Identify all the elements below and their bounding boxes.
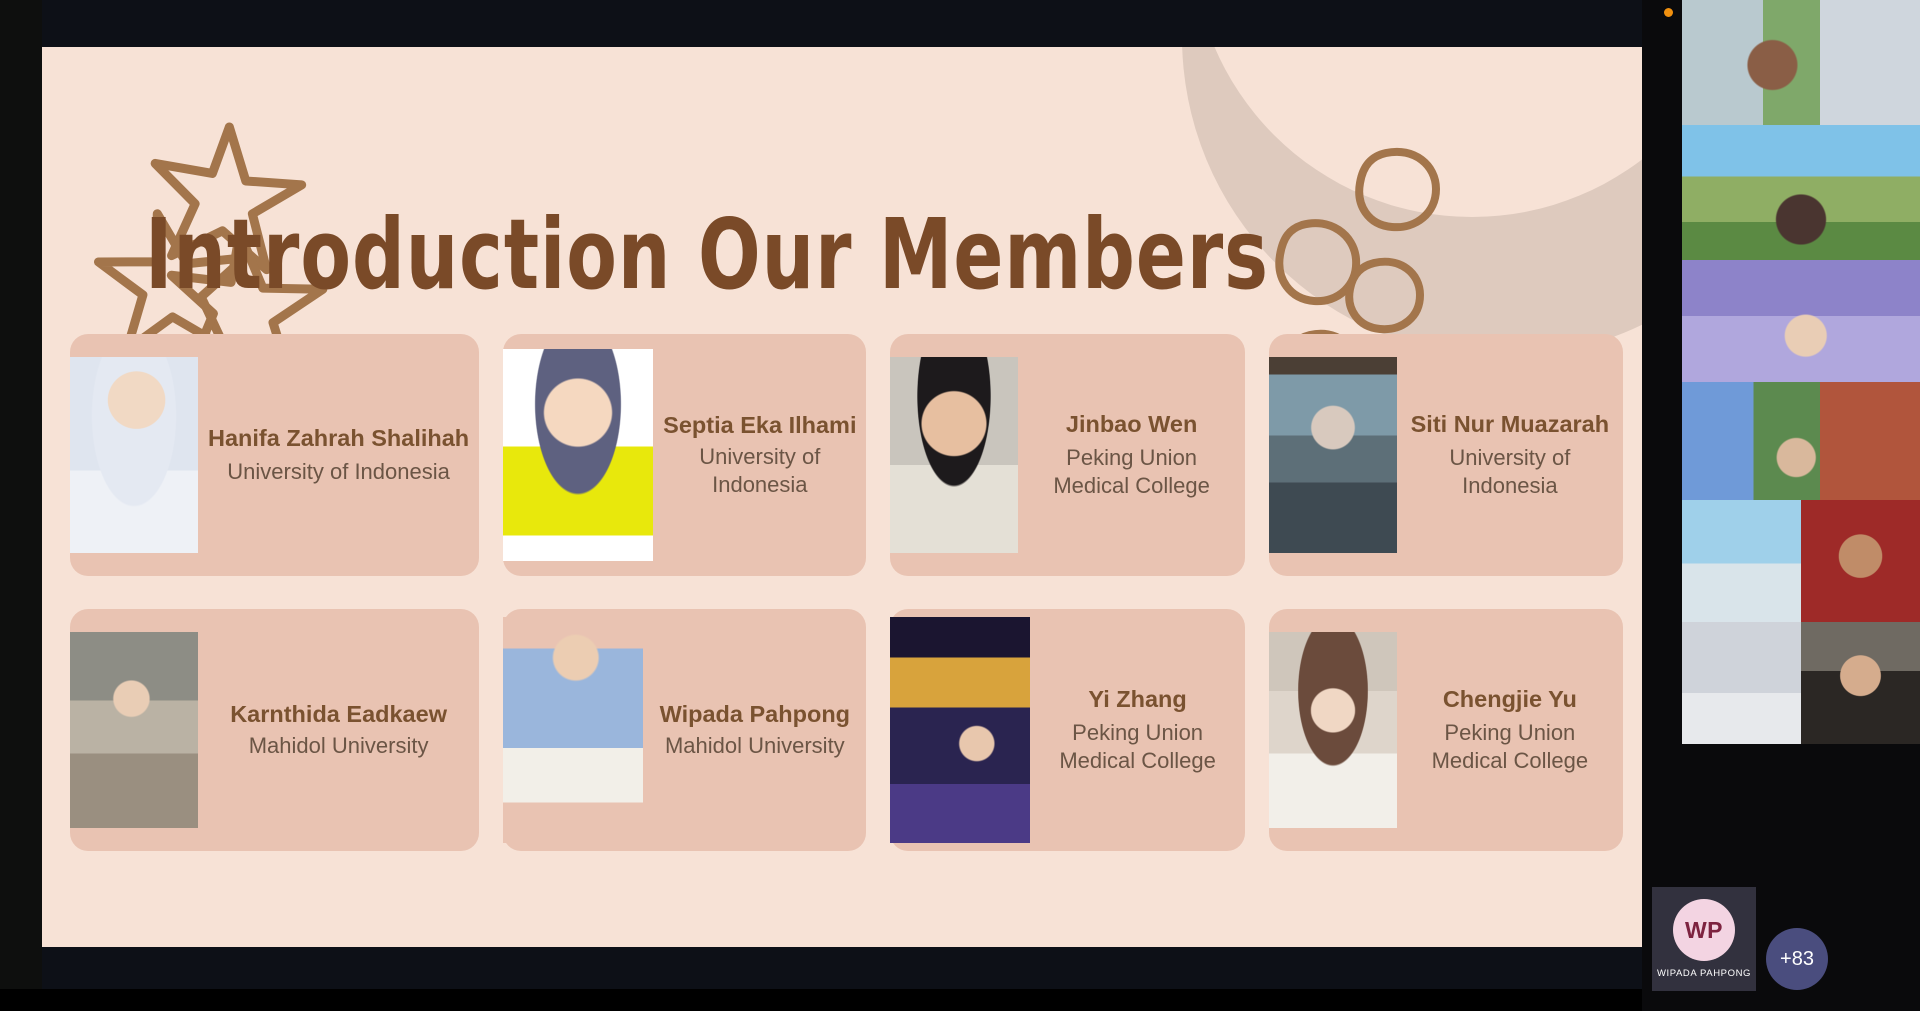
video-tiles — [1682, 0, 1920, 744]
video-tile-pair[interactable] — [1682, 500, 1920, 622]
member-card[interactable]: Yi Zhang Peking Union Medical College — [890, 609, 1244, 851]
member-name: Yi Zhang — [1040, 685, 1234, 714]
member-photo — [1269, 632, 1397, 828]
member-info: Hanifa Zahrah Shalihah University of Ind… — [198, 424, 479, 486]
members-grid: Hanifa Zahrah Shalihah University of Ind… — [70, 334, 1623, 851]
slide-canvas: Introduction Our Members Hanifa Zahrah S… — [42, 47, 1642, 947]
member-card[interactable]: Karnthida Eadkaew Mahidol University — [70, 609, 479, 851]
video-tile[interactable] — [1801, 622, 1920, 744]
stage-left-margin — [0, 0, 42, 1011]
member-photo — [503, 349, 653, 561]
member-info: Siti Nur Muazarah University of Indonesi… — [1397, 410, 1623, 500]
member-card[interactable]: Siti Nur Muazarah University of Indonesi… — [1269, 334, 1623, 576]
member-info: Wipada Pahpong Mahidol University — [643, 700, 866, 759]
presentation-stage: Introduction Our Members Hanifa Zahrah S… — [0, 0, 1642, 1011]
member-info: Karnthida Eadkaew Mahidol University — [198, 700, 479, 759]
member-name: Chengjie Yu — [1407, 685, 1613, 714]
member-info: Jinbao Wen Peking Union Medical College — [1018, 410, 1244, 500]
member-university: Peking Union Medical College — [1407, 719, 1613, 775]
member-university: University of Indonesia — [208, 458, 469, 486]
video-tile-pair[interactable] — [1682, 622, 1920, 744]
member-card[interactable]: Septia Eka Ilhami University of Indonesi… — [503, 334, 866, 576]
more-participants-badge[interactable]: +83 — [1766, 928, 1828, 990]
participant-avatars: WP WIPADA PAHPONG +83 — [1646, 887, 1920, 1011]
member-card[interactable]: Wipada Pahpong Mahidol University — [503, 609, 866, 851]
member-photo — [1269, 357, 1397, 553]
member-name: Septia Eka Ilhami — [663, 411, 856, 440]
member-photo — [503, 617, 643, 843]
meeting-screen: Introduction Our Members Hanifa Zahrah S… — [0, 0, 1920, 1011]
member-photo — [70, 357, 198, 553]
recording-indicator-icon — [1664, 8, 1673, 17]
member-photo — [890, 617, 1030, 843]
member-university: Mahidol University — [208, 732, 469, 760]
avatar: WP — [1673, 899, 1735, 961]
avatar-name: WIPADA PAHPONG — [1657, 968, 1751, 979]
stage-bottom-margin — [0, 989, 1642, 1011]
member-info: Septia Eka Ilhami University of Indonesi… — [653, 411, 866, 498]
video-tile[interactable] — [1682, 260, 1920, 382]
member-photo — [890, 357, 1018, 553]
member-university: Mahidol University — [653, 732, 856, 760]
video-tile[interactable] — [1682, 622, 1801, 744]
member-card[interactable]: Hanifa Zahrah Shalihah University of Ind… — [70, 334, 479, 576]
member-card[interactable]: Jinbao Wen Peking Union Medical College — [890, 334, 1244, 576]
video-tile[interactable] — [1682, 125, 1920, 260]
member-name: Siti Nur Muazarah — [1407, 410, 1613, 439]
video-tile[interactable] — [1682, 0, 1920, 125]
member-photo — [70, 632, 198, 828]
member-info: Chengjie Yu Peking Union Medical College — [1397, 685, 1623, 775]
member-university: Peking Union Medical College — [1028, 444, 1234, 500]
member-name: Karnthida Eadkaew — [208, 700, 469, 729]
member-name: Hanifa Zahrah Shalihah — [208, 424, 469, 453]
avatar-tile[interactable]: WP WIPADA PAHPONG — [1652, 887, 1756, 991]
member-name: Jinbao Wen — [1028, 410, 1234, 439]
member-university: University of Indonesia — [663, 443, 856, 499]
video-tile[interactable] — [1682, 382, 1920, 500]
member-info: Yi Zhang Peking Union Medical College — [1030, 685, 1244, 775]
member-card[interactable]: Chengjie Yu Peking Union Medical College — [1269, 609, 1623, 851]
member-university: Peking Union Medical College — [1040, 719, 1234, 775]
video-tile[interactable] — [1801, 500, 1920, 622]
participant-sidebar: WP WIPADA PAHPONG +83 — [1642, 0, 1920, 1011]
page-title: Introduction Our Members — [62, 197, 1352, 311]
video-tile[interactable] — [1682, 500, 1801, 622]
member-name: Wipada Pahpong — [653, 700, 856, 729]
member-university: University of Indonesia — [1407, 444, 1613, 500]
